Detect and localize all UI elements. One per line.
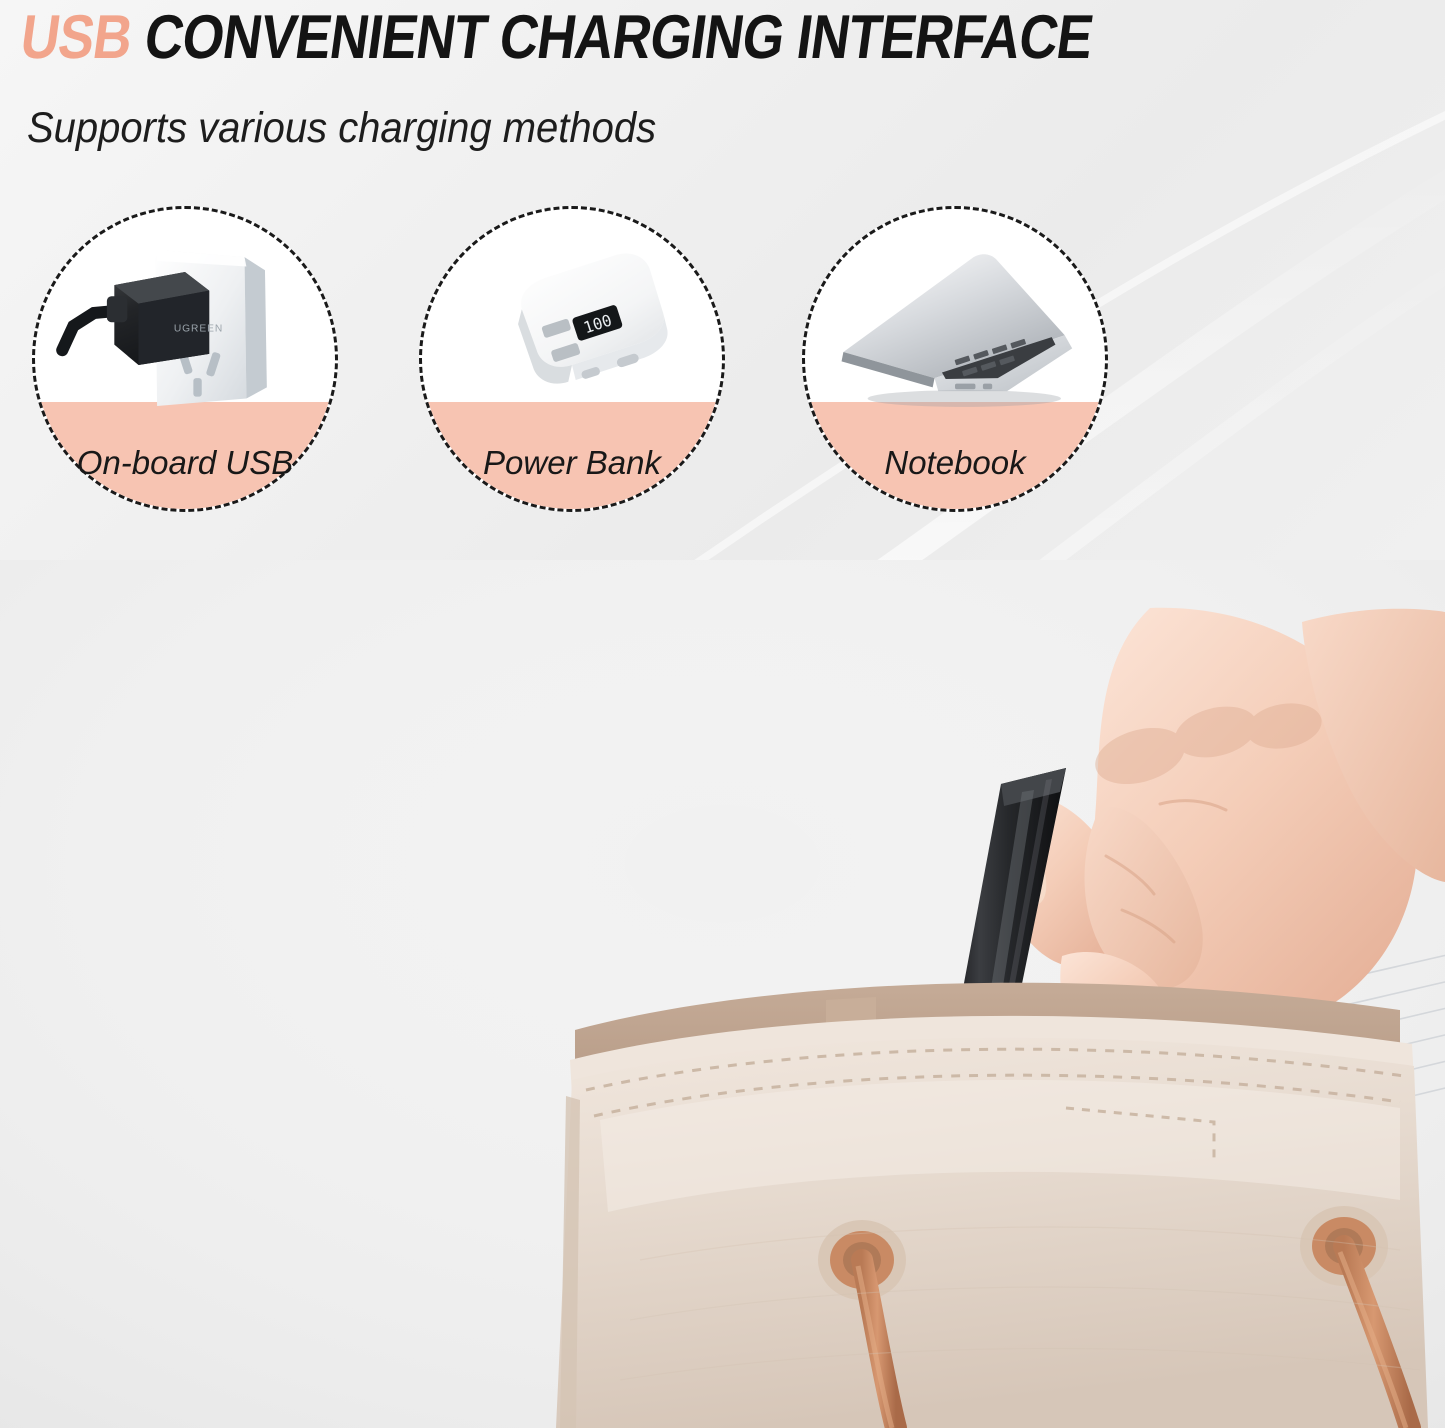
wall-charger-icon: UGREEN [35,233,335,419]
badge-caption: Notebook [802,444,1108,482]
badge-power-bank[interactable]: 100 Power Bank [419,206,725,512]
lifestyle-photo [0,560,1445,1428]
badge-caption: On-board USB [32,444,338,482]
photo-svg [0,560,1445,1428]
badge-notebook[interactable]: Notebook [802,206,1108,512]
power-bank-icon: 100 [422,233,722,419]
badge-caption: Power Bank [419,444,725,482]
leather-handbag [556,983,1428,1428]
svg-text:UGREEN: UGREEN [174,324,223,335]
charging-method-badges: UGREEN On-board USB [0,0,1445,560]
badge-on-board-usb[interactable]: UGREEN On-board USB [32,206,338,512]
laptop-icon [805,233,1105,419]
product-marketing-page: USB CONVENIENT CHARGING INTERFACE Suppor… [0,0,1445,1428]
